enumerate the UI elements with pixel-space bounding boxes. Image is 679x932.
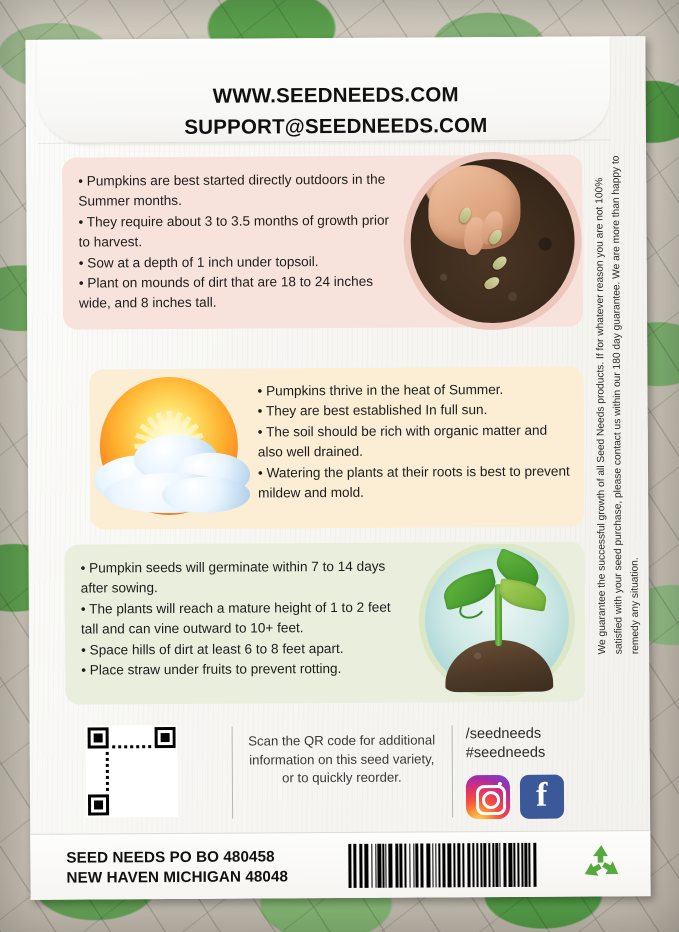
barcode-bar bbox=[375, 844, 377, 888]
barcode-bar bbox=[371, 844, 372, 888]
barcode-bar bbox=[525, 843, 528, 887]
barcode-bar bbox=[533, 843, 536, 887]
conditions-line-2: • They are best established In full sun. bbox=[258, 400, 574, 422]
growing-conditions-text: • Pumpkins thrive in the heat of Summer.… bbox=[257, 380, 574, 504]
barcode-bar bbox=[492, 843, 494, 887]
social-handle: /seedneeds bbox=[466, 724, 586, 744]
barcode-bar bbox=[399, 844, 402, 888]
barcode-bar bbox=[453, 843, 455, 887]
qr-and-social-row: Scan the QR code for additional informat… bbox=[66, 716, 587, 829]
barcode-bar bbox=[495, 843, 498, 887]
barcode-bar bbox=[439, 843, 441, 887]
recycle-icon bbox=[578, 841, 624, 887]
seed-packet: WWW.SEEDNEEDS.COM SUPPORT@SEEDNEEDS.COM … bbox=[25, 36, 650, 900]
address-line-1: SEED NEEDS PO BO 480458 bbox=[66, 847, 288, 869]
barcode-bar bbox=[484, 843, 487, 887]
barcode-bar bbox=[529, 843, 531, 887]
growing-conditions-block: • Pumpkins thrive in the heat of Summer.… bbox=[89, 366, 584, 529]
conditions-line-4: • Watering the plants at their roots is … bbox=[258, 461, 574, 504]
conditions-line-1: • Pumpkins thrive in the heat of Summer. bbox=[257, 380, 573, 402]
planting-line-3: • Sow at a depth of 1 inch under topsoil… bbox=[79, 251, 401, 273]
hand-sowing-seeds-photo bbox=[410, 159, 575, 324]
instagram-icon[interactable] bbox=[466, 775, 510, 819]
barcode-bar bbox=[488, 843, 490, 887]
divider bbox=[232, 727, 234, 819]
germination-info-text: • Pumpkin seeds will germinate within 7 … bbox=[81, 557, 412, 681]
germination-line-2: • The plants will reach a mature height … bbox=[81, 597, 411, 640]
barcode-bar bbox=[447, 843, 451, 887]
barcode-bar bbox=[457, 843, 460, 887]
barcode-bar bbox=[436, 843, 437, 887]
social-handles: /seedneeds #seedneeds bbox=[466, 724, 586, 763]
qr-code-canvas[interactable] bbox=[88, 727, 177, 816]
scan-instructions: Scan the QR code for additional informat… bbox=[242, 731, 442, 788]
barcode-bar bbox=[364, 844, 368, 888]
conditions-line-3: • The soil should be rich with organic m… bbox=[258, 420, 574, 463]
barcode-bar bbox=[427, 843, 431, 887]
barcode-bar bbox=[477, 843, 479, 887]
barcode-bar bbox=[348, 844, 351, 888]
barcode-bar bbox=[420, 843, 424, 887]
social-icons: f bbox=[466, 774, 586, 819]
germination-line-3: • Space hills of dirt at least 6 to 8 fe… bbox=[81, 638, 411, 660]
return-address: SEED NEEDS PO BO 480458 NEW HAVEN MICHIG… bbox=[66, 847, 288, 889]
barcode-bar bbox=[481, 843, 483, 887]
social-hashtag: #seedneeds bbox=[466, 743, 586, 763]
planting-info-block: • Pumpkins are best started directly out… bbox=[62, 155, 583, 330]
barcode-bar bbox=[388, 844, 392, 888]
social-section: /seedneeds #seedneeds f bbox=[466, 724, 587, 819]
barcode-bar bbox=[359, 844, 362, 888]
guarantee-text: We guarantee the successful growth of al… bbox=[592, 144, 645, 654]
barcode-bar bbox=[442, 843, 445, 887]
email-text: SUPPORT@SEEDNEEDS.COM bbox=[26, 109, 646, 144]
barcode-bar bbox=[385, 844, 386, 888]
barcode-bar bbox=[353, 844, 356, 888]
barcode-bar bbox=[513, 843, 515, 887]
barcode-bar bbox=[503, 843, 506, 887]
seed-shape bbox=[482, 275, 501, 292]
address-bar: SEED NEEDS PO BO 480458 NEW HAVEN MICHIG… bbox=[30, 830, 650, 900]
cloud-shape bbox=[162, 477, 250, 514]
planting-line-2: • They require about 3 to 3.5 months of … bbox=[78, 210, 400, 253]
barcode-bar bbox=[462, 843, 464, 887]
barcode-bar bbox=[433, 843, 434, 887]
germination-line-4: • Place straw under fruits to prevent ro… bbox=[81, 659, 411, 681]
barcode-bar bbox=[409, 844, 410, 888]
qr-code[interactable] bbox=[86, 725, 179, 818]
barcode-bar bbox=[415, 844, 418, 888]
website-text: WWW.SEEDNEEDS.COM bbox=[26, 78, 646, 113]
germination-info-block: • Pumpkin seeds will germinate within 7 … bbox=[64, 541, 585, 704]
barcode-bar bbox=[472, 843, 475, 887]
barcode-bar bbox=[383, 844, 385, 888]
sun-and-clouds-illustration bbox=[87, 368, 260, 523]
barcode-bar bbox=[517, 843, 520, 887]
facebook-icon[interactable]: f bbox=[520, 775, 564, 819]
barcode-bar bbox=[404, 844, 406, 888]
planting-line-4: • Plant on mounds of dirt that are 18 to… bbox=[79, 272, 401, 315]
divider bbox=[452, 725, 454, 817]
barcode-bar bbox=[522, 843, 524, 887]
barcode bbox=[348, 843, 538, 888]
seedling-in-soil-photo bbox=[410, 544, 579, 697]
packet-header: WWW.SEEDNEEDS.COM SUPPORT@SEEDNEEDS.COM bbox=[26, 78, 646, 144]
barcode-bar bbox=[508, 843, 512, 887]
barcode-bar bbox=[395, 844, 398, 888]
address-line-2: NEW HAVEN MICHIGAN 48048 bbox=[66, 868, 288, 890]
germination-line-1: • Pumpkin seeds will germinate within 7 … bbox=[81, 557, 411, 600]
guarantee-panel: We guarantee the successful growth of al… bbox=[593, 144, 644, 664]
barcode-bar bbox=[378, 844, 382, 888]
barcode-bar bbox=[499, 843, 500, 887]
planting-info-text: • Pumpkins are best started directly out… bbox=[78, 170, 401, 315]
planting-line-1: • Pumpkins are best started directly out… bbox=[78, 170, 400, 213]
seed-shape bbox=[490, 254, 509, 272]
barcode-bar bbox=[467, 843, 470, 887]
